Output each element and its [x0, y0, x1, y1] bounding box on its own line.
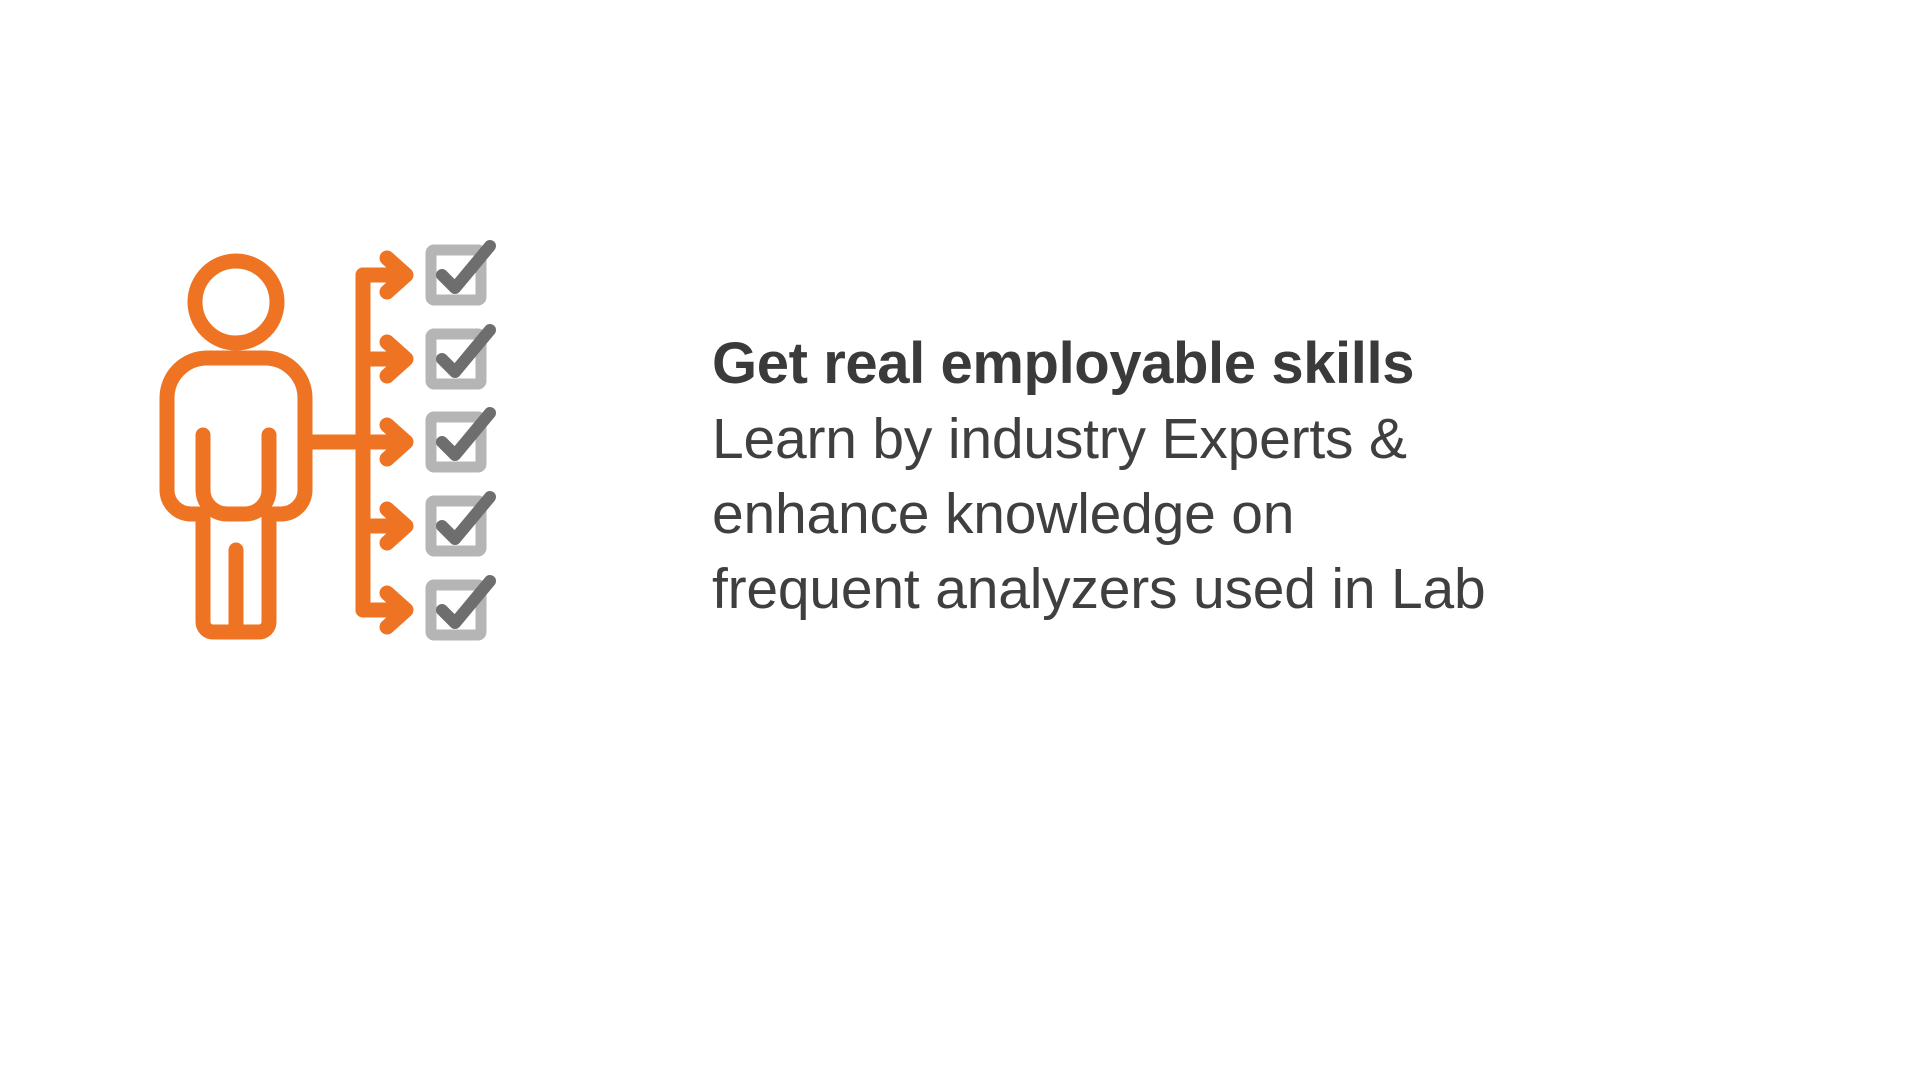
body-line: enhance knowledge on	[712, 477, 1832, 552]
checkbox-checked-icon[interactable]	[431, 246, 490, 300]
body-line: Learn by industry Experts &	[712, 402, 1832, 477]
checkbox-checked-icon[interactable]	[431, 413, 490, 467]
checkbox-checked-icon[interactable]	[431, 330, 490, 384]
text-content-block: Get real employable skills Learn by indu…	[712, 330, 1832, 628]
checkbox-checked-icon[interactable]	[431, 581, 490, 635]
person-right-arm-icon	[236, 435, 269, 514]
body-line: frequent analyzers used in Lab	[712, 552, 1832, 627]
person-left-arm-icon	[203, 435, 236, 514]
checkbox-checked-icon[interactable]	[431, 497, 490, 551]
headline-text: Get real employable skills	[712, 330, 1832, 398]
person-figure-icon	[167, 261, 305, 632]
arrow-branch-group	[305, 258, 406, 627]
person-head-icon	[195, 261, 277, 343]
body-text: Learn by industry Experts & enhance know…	[712, 402, 1832, 628]
person-torso-icon	[167, 358, 305, 490]
skills-illustration	[150, 240, 630, 740]
checkbox-list	[431, 246, 490, 635]
slide-canvas: Get real employable skills Learn by indu…	[0, 0, 1920, 1080]
